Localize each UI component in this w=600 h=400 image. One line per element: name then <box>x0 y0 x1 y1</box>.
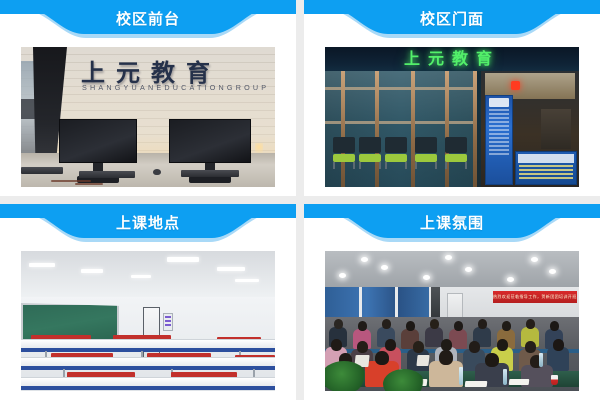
lecture-red-banner: 热烈欢迎莅临指导工作，贺新团团培训开班典礼 <box>493 291 577 303</box>
banner-campus-reception: 校区前台 <box>0 0 296 46</box>
classroom-light-3 <box>131 275 151 278</box>
reception-lamp-glow <box>255 143 263 153</box>
classroom-desk-row-3 <box>21 377 275 390</box>
classroom-light-5 <box>217 267 245 271</box>
reception-keyboard-right <box>181 170 239 177</box>
reception-cable <box>51 180 91 182</box>
facade-rail-mid <box>325 121 477 124</box>
classroom-light-6 <box>235 279 259 282</box>
photo-campus-reception[interactable]: 上元教育 SHANGYUANEDUCATIONGROUP <box>21 47 275 187</box>
reception-cable-2 <box>75 183 103 185</box>
gallery-card-campus-facade[interactable]: 校区门面 上元教育 <box>304 0 600 196</box>
facade-rail-top <box>325 87 477 90</box>
facade-roll-up-banner <box>485 95 513 185</box>
banner-title-campus-facade: 校区门面 <box>304 6 600 32</box>
lecture-audience <box>325 317 579 391</box>
lecture-plant-1 <box>325 361 367 391</box>
banner-title-class-location: 上课地点 <box>0 210 296 236</box>
classroom-desk-rows <box>21 333 275 391</box>
lecture-paper-cup <box>551 375 558 385</box>
banner-class-atmosphere: 上课氛围 <box>304 204 600 250</box>
classroom-desk-row-1 <box>21 339 275 352</box>
banner-campus-facade: 校区门面 <box>304 0 600 46</box>
lecture-red-banner-text: 热烈欢迎莅临指导工作，贺新团团培训开班典礼 <box>493 291 577 303</box>
classroom-light-4 <box>167 257 199 262</box>
photo-class-atmosphere[interactable]: 热烈欢迎莅临指导工作，贺新团团培训开班典礼 <box>325 251 579 391</box>
reception-wall-logo-en: SHANGYUANEDUCATIONGROUP <box>82 83 269 92</box>
facade-mullion-3 <box>411 71 415 187</box>
photo-gallery: 校区前台 上元教育 SHANGYUANEDUCATIONGROUP <box>0 0 600 400</box>
facade-mullion-1 <box>341 71 345 187</box>
classroom-ceiling <box>21 251 275 297</box>
photo-class-location[interactable] <box>21 251 275 391</box>
reception-keyboard-left <box>21 167 63 174</box>
photo-campus-facade[interactable]: 上元教育 <box>325 47 579 187</box>
classroom-desk-row-2 <box>21 357 275 370</box>
facade-mullion-5 <box>473 71 477 187</box>
classroom-wall-poster <box>163 313 173 331</box>
classroom-light-2 <box>81 269 103 273</box>
facade-sign-text: 上元教育 <box>325 48 579 70</box>
reception-mouse <box>153 169 161 175</box>
facade-waiting-chairs <box>333 135 475 169</box>
facade-red-light <box>511 81 520 90</box>
facade-mullion-2 <box>375 71 379 187</box>
gallery-card-campus-reception[interactable]: 校区前台 上元教育 SHANGYUANEDUCATIONGROUP <box>0 0 296 196</box>
reception-keyboard-mid <box>79 171 135 178</box>
banner-class-location: 上课地点 <box>0 204 296 250</box>
classroom-light-1 <box>29 263 55 267</box>
lecture-plant-2 <box>383 369 425 391</box>
reception-side-object <box>21 99 35 119</box>
banner-title-campus-reception: 校区前台 <box>0 6 296 32</box>
facade-mullion-4 <box>445 71 449 187</box>
facade-shelf <box>541 109 571 149</box>
banner-title-class-atmosphere: 上课氛围 <box>304 210 600 236</box>
gallery-card-class-location[interactable]: 上课地点 <box>0 204 296 400</box>
facade-floor-banner <box>515 151 577 185</box>
gallery-card-class-atmosphere[interactable]: 上课氛围 热烈欢迎莅临指导工作， <box>304 204 600 400</box>
